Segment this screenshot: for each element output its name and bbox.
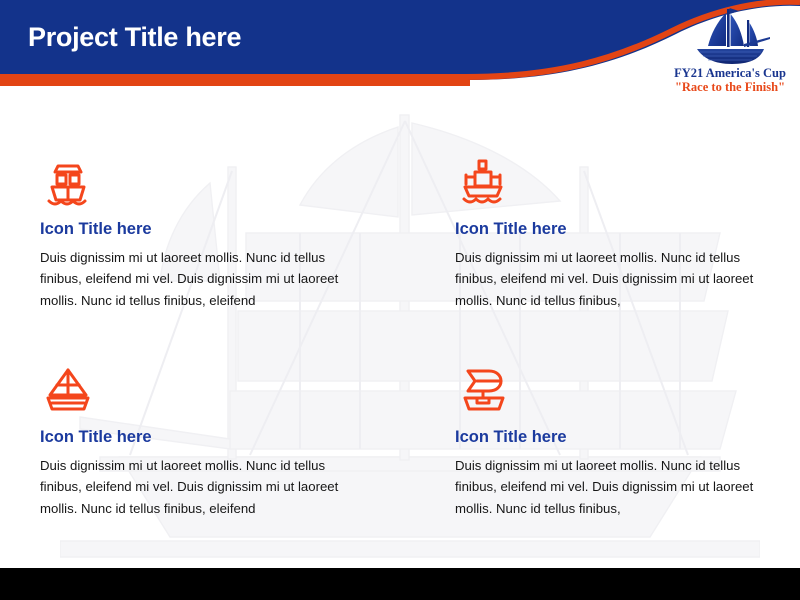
card-title: Icon Title here [455, 428, 755, 448]
content-card: Icon Title here Duis dignissim mi ut lao… [40, 362, 370, 519]
card-body: Duis dignissim mi ut laoreet mollis. Nun… [40, 455, 370, 519]
logo: FY21 America's Cup "Race to the Finish" [668, 4, 792, 100]
content-card: Icon Title here Duis dignissim mi ut lao… [40, 154, 370, 311]
content-card: Icon Title here Duis dignissim mi ut lao… [455, 362, 755, 519]
card-title: Icon Title here [40, 220, 370, 240]
card-body: Duis dignissim mi ut laoreet mollis. Nun… [40, 247, 370, 311]
small-sailboat-icon [40, 362, 370, 418]
slide-canvas: Project Title here [0, 0, 800, 600]
page-title: Project Title here [28, 22, 241, 53]
steam-ship-side-icon [455, 154, 755, 210]
card-title: Icon Title here [40, 428, 370, 448]
footer-bar [0, 568, 800, 600]
logo-line-primary: FY21 America's Cup [668, 66, 792, 80]
content-card: Icon Title here Duis dignissim mi ut lao… [455, 154, 755, 311]
sailboat-icon [684, 4, 776, 66]
card-body: Duis dignissim mi ut laoreet mollis. Nun… [455, 455, 755, 519]
card-body: Duis dignissim mi ut laoreet mollis. Nun… [455, 247, 755, 311]
yacht-icon [455, 362, 755, 418]
content-grid: Icon Title here Duis dignissim mi ut lao… [0, 104, 800, 568]
cruise-ship-front-icon [40, 154, 370, 210]
card-title: Icon Title here [455, 220, 755, 240]
logo-line-tagline: "Race to the Finish" [668, 80, 792, 94]
